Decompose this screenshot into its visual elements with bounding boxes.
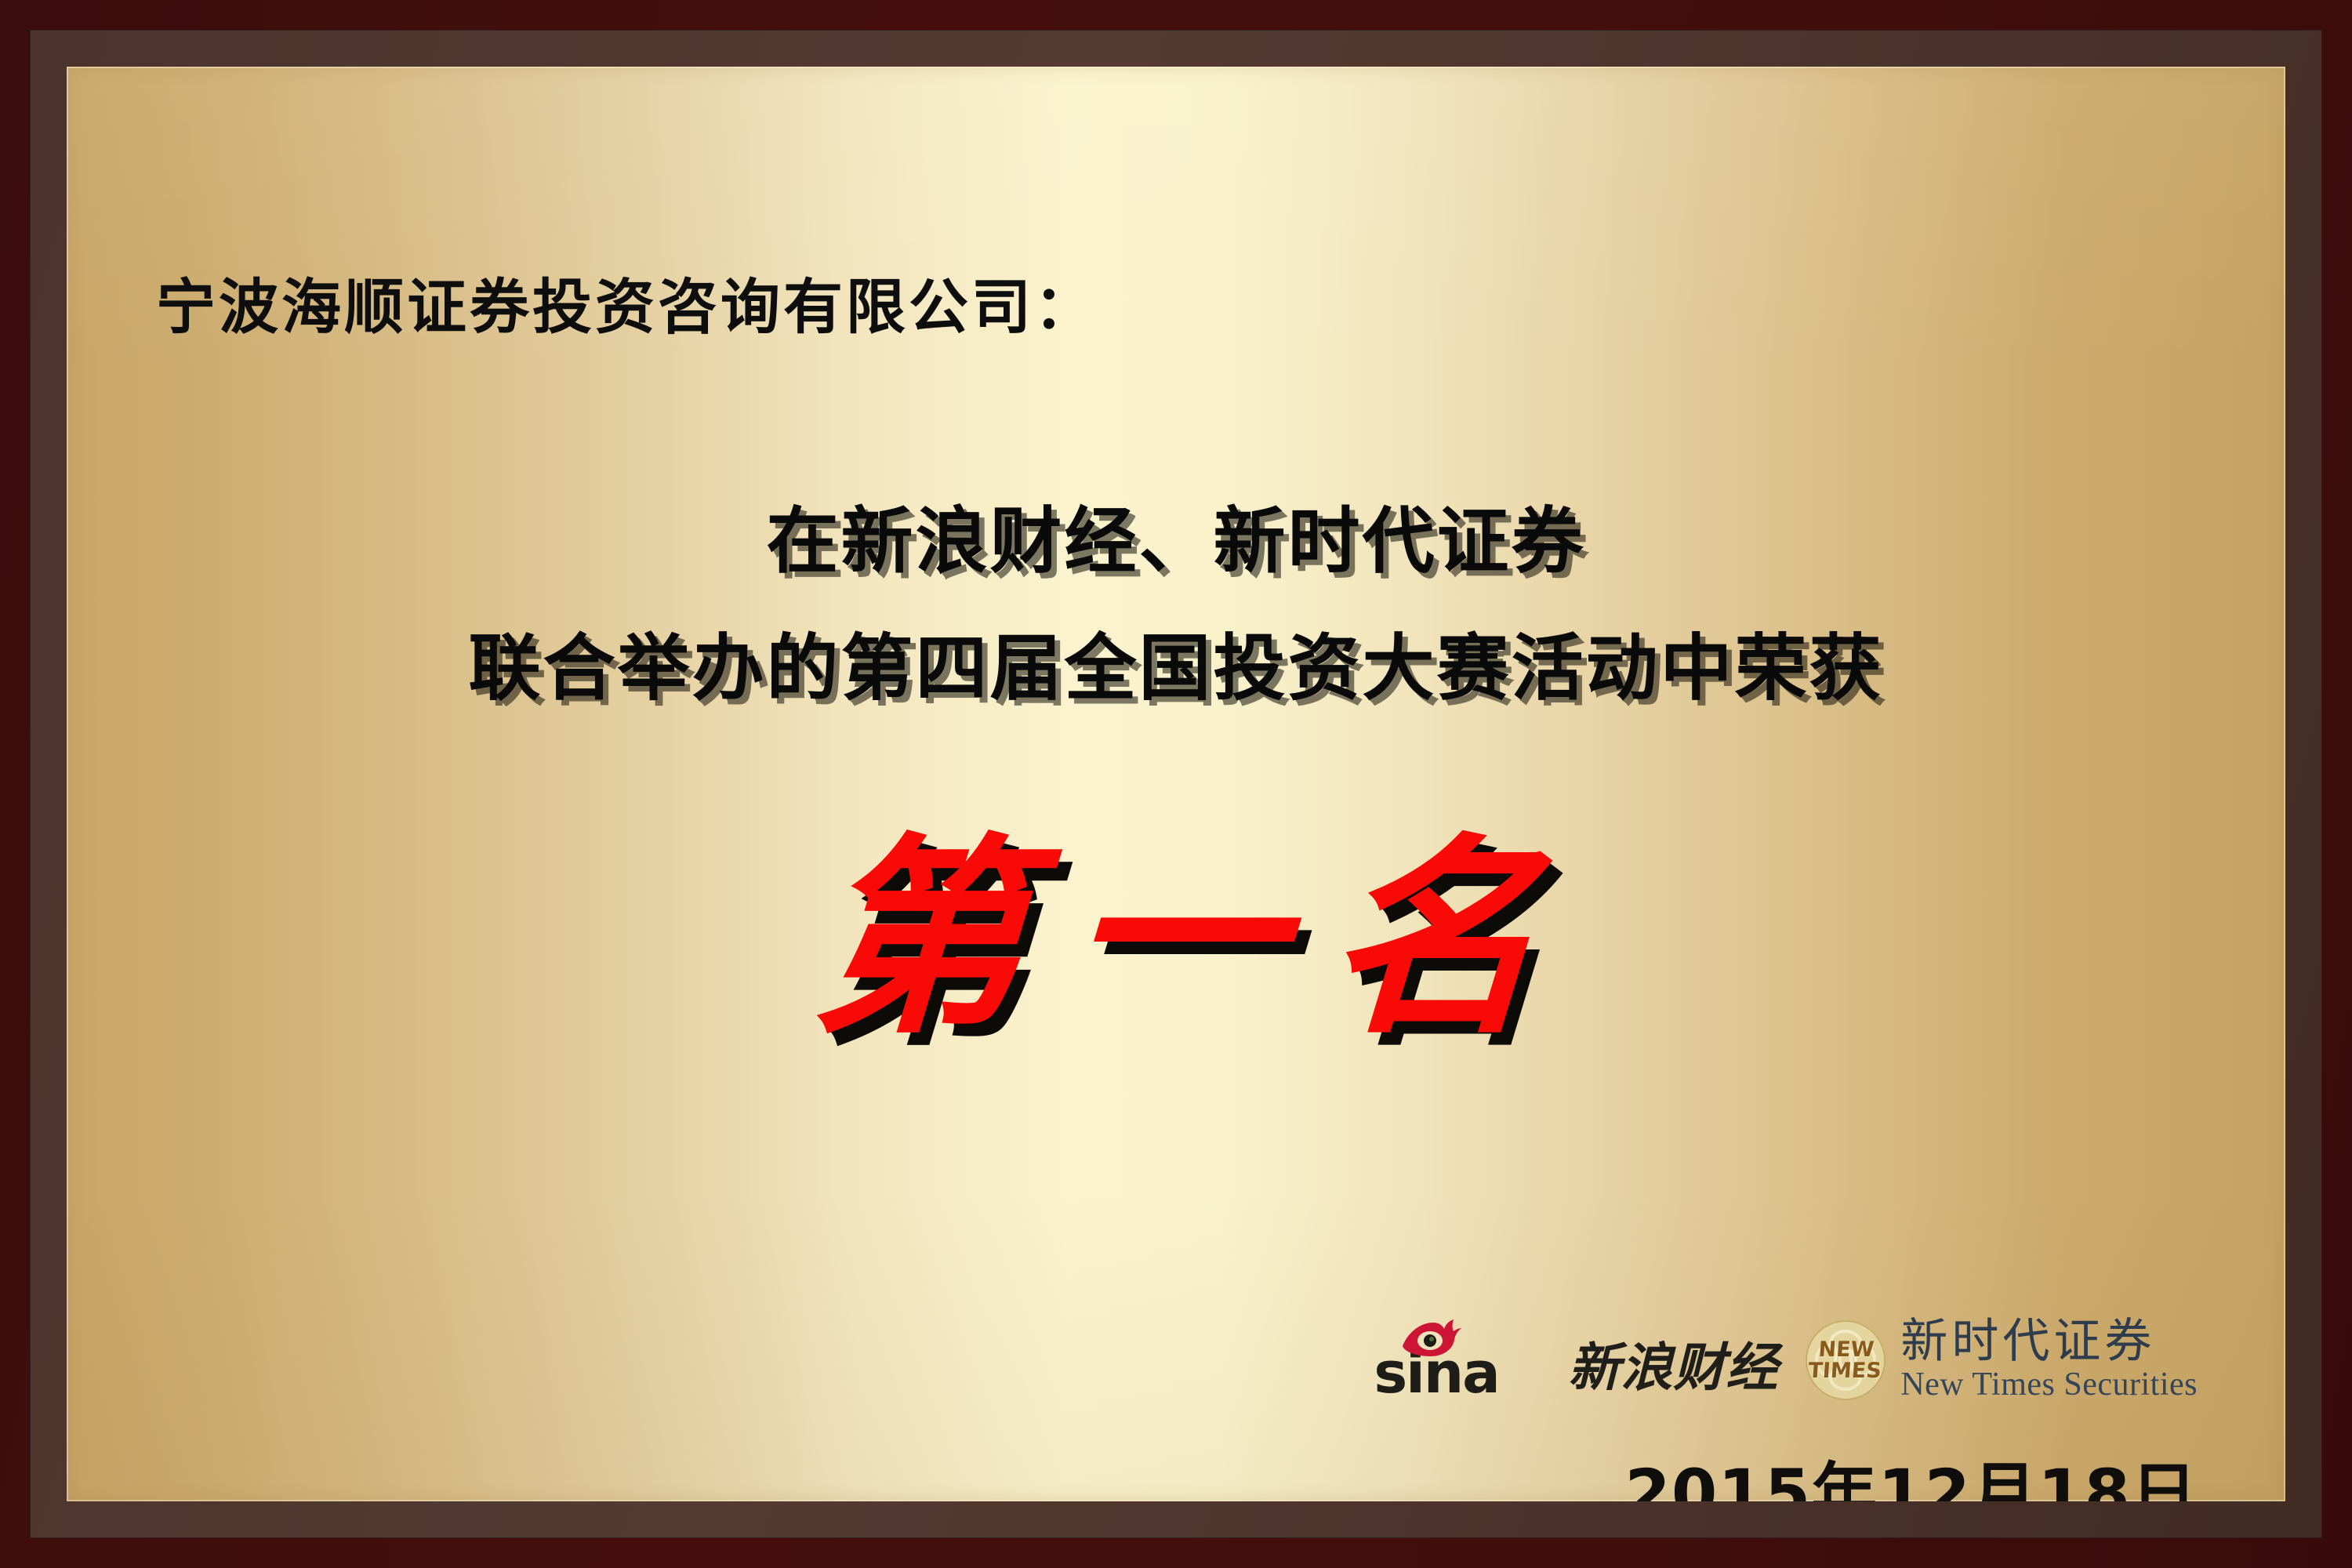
new-times-emblem-line1: NEW bbox=[1818, 1338, 1875, 1362]
new-times-emblem-label: NEW TIMES bbox=[1803, 1339, 1888, 1381]
new-times-chinese-name: 新时代证券 bbox=[1900, 1318, 2198, 1366]
sponsor-logos: sina 新浪财经 bbox=[1374, 1318, 2198, 1402]
sina-chinese-name: 新浪财经 bbox=[1568, 1343, 1778, 1398]
award-date: 2015年12月18日 bbox=[1624, 1441, 2198, 1501]
sina-wordmark-group: sina bbox=[1374, 1323, 1559, 1398]
new-times-english-name: New Times Securities bbox=[1900, 1367, 2198, 1402]
citation-body: 在新浪财经、新时代证券 联合举办的第四届全国投资大赛活动中荣获 bbox=[67, 478, 2285, 732]
new-times-emblem-line2: TIMES bbox=[1808, 1359, 1882, 1383]
citation-line-2: 联合举办的第四届全国投资大赛活动中荣获 bbox=[67, 605, 2285, 732]
recipient-name: 宁波海顺证券投资咨询有限公司： bbox=[156, 259, 1097, 345]
new-times-securities-logo: NEW TIMES 新时代证券 New Times Securities bbox=[1805, 1318, 2198, 1402]
award-title-container: 第一名 bbox=[67, 823, 2285, 1060]
new-times-wordmark: 新时代证券 New Times Securities bbox=[1900, 1318, 2198, 1402]
citation-line-1: 在新浪财经、新时代证券 bbox=[67, 478, 2285, 605]
sina-finance-logo: sina 新浪财经 bbox=[1374, 1323, 1778, 1398]
sina-eye-icon bbox=[1400, 1319, 1461, 1359]
new-times-emblem-icon: NEW TIMES bbox=[1805, 1319, 1886, 1401]
award-title: 第一名 bbox=[761, 823, 1591, 1060]
award-plaque: 宁波海顺证券投资咨询有限公司： 在新浪财经、新时代证券 联合举办的第四届全国投资… bbox=[0, 0, 2352, 1568]
plaque-inner-frame: 宁波海顺证券投资咨询有限公司： 在新浪财经、新时代证券 联合举办的第四届全国投资… bbox=[30, 30, 2322, 1538]
gold-plate: 宁波海顺证券投资咨询有限公司： 在新浪财经、新时代证券 联合举办的第四届全国投资… bbox=[67, 67, 2285, 1501]
